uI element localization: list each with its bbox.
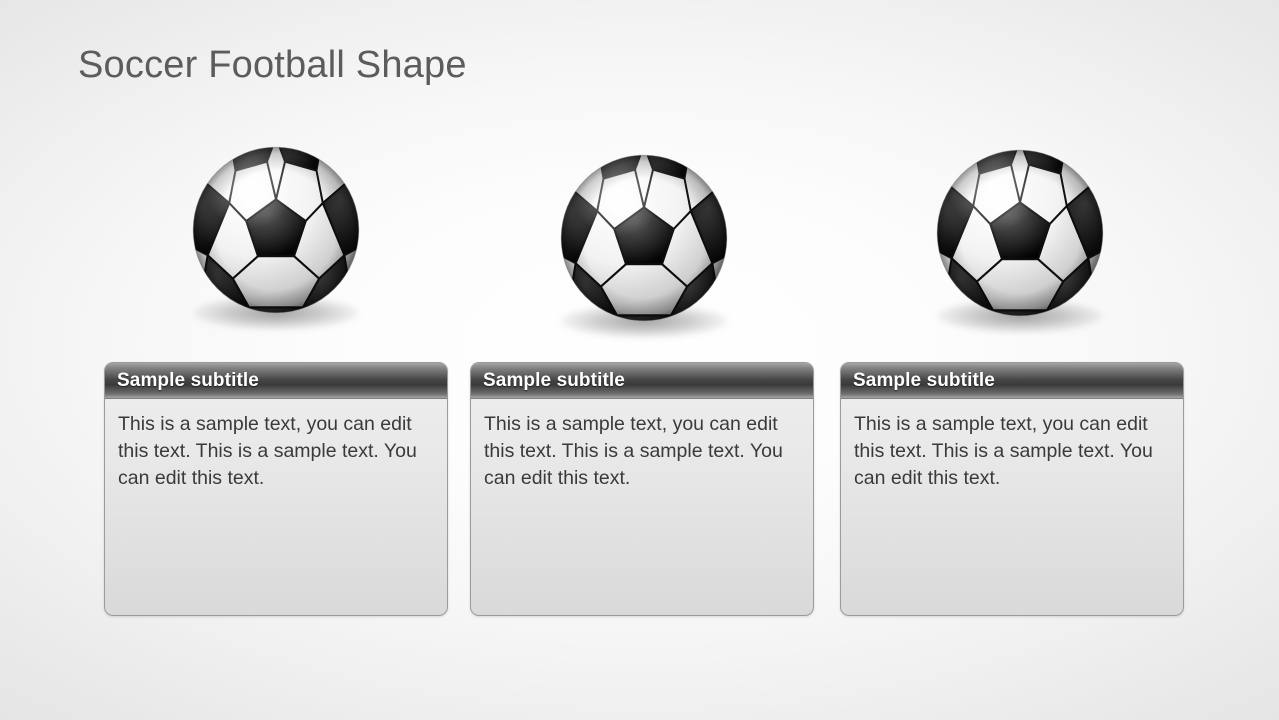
soccer-ball-2[interactable]: [554, 148, 734, 348]
content-card-1[interactable]: Sample subtitle This is a sample text, y…: [104, 362, 448, 616]
card-header-3: Sample subtitle: [841, 363, 1183, 399]
page-title: Soccer Football Shape: [78, 44, 467, 87]
card-subtitle: Sample subtitle: [483, 370, 625, 392]
soccer-ball-1[interactable]: [186, 140, 366, 340]
card-body-text: This is a sample text, you can edit this…: [841, 399, 1183, 492]
card-subtitle: Sample subtitle: [853, 370, 995, 392]
content-card-2[interactable]: Sample subtitle This is a sample text, y…: [470, 362, 814, 616]
card-body-text: This is a sample text, you can edit this…: [105, 399, 447, 492]
card-subtitle: Sample subtitle: [117, 370, 259, 392]
soccer-ball-3[interactable]: [930, 143, 1110, 343]
content-card-3[interactable]: Sample subtitle This is a sample text, y…: [840, 362, 1184, 616]
slide-canvas: Soccer Football Shape: [0, 0, 1279, 720]
card-header-2: Sample subtitle: [471, 363, 813, 399]
soccer-ball-icon: [186, 140, 366, 320]
card-body-text: This is a sample text, you can edit this…: [471, 399, 813, 492]
soccer-ball-icon: [930, 143, 1110, 323]
soccer-ball-icon: [554, 148, 734, 328]
card-header-1: Sample subtitle: [105, 363, 447, 399]
